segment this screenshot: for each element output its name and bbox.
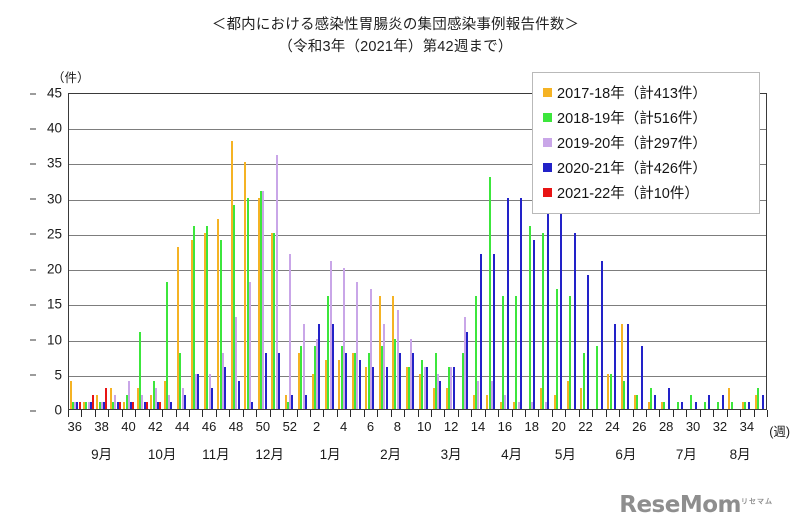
bar	[79, 402, 81, 409]
bar	[170, 402, 172, 409]
bar	[493, 254, 495, 409]
bar	[489, 177, 491, 409]
bar	[197, 374, 199, 409]
bar	[224, 367, 226, 409]
bar	[480, 254, 482, 409]
bar	[251, 402, 253, 409]
bar	[569, 296, 571, 409]
x-axis-tick	[579, 410, 580, 417]
x-axis-tick	[68, 410, 69, 417]
x-axis-week-label: 6	[367, 419, 374, 434]
bar	[426, 367, 428, 409]
x-axis-month-label: 1月	[320, 443, 341, 463]
x-axis-tick	[95, 410, 96, 417]
bar-group-week-42	[150, 94, 163, 409]
legend-label-2021-22: 2021-22年（計10件）	[557, 182, 699, 203]
x-axis-tick	[391, 410, 392, 417]
legend-swatch-2020-21	[543, 163, 552, 172]
bar-group-week-12	[446, 94, 459, 409]
bar	[332, 324, 334, 409]
x-axis-tick	[364, 410, 365, 417]
bar-group-week-17	[513, 94, 526, 409]
bar	[278, 353, 280, 409]
y-axis-tick-label: 5	[36, 367, 62, 382]
x-axis-week-label: 34	[740, 419, 754, 434]
bar	[238, 381, 240, 409]
bar	[105, 388, 107, 409]
chart-page: ＜都内における感染性胃腸炎の集団感染事例報告件数＞ （令和3年（2021年）第4…	[0, 0, 791, 530]
x-axis-week-label: 40	[121, 419, 135, 434]
bar	[529, 226, 531, 409]
x-axis-tick	[310, 410, 311, 417]
bar-group-week-44	[177, 94, 190, 409]
x-axis-tick	[512, 410, 513, 417]
x-axis-ticks	[68, 410, 767, 418]
bar	[132, 402, 134, 409]
bar	[668, 388, 670, 409]
x-axis-tick	[754, 410, 755, 417]
bar	[265, 353, 267, 409]
legend-label-2019-20: 2019-20年（計297件）	[557, 132, 707, 153]
y-axis-tick-label: 40	[36, 121, 62, 136]
x-axis-week-label: 26	[632, 419, 646, 434]
x-axis-week-label: 22	[578, 419, 592, 434]
bar	[399, 353, 401, 409]
bar-group-week-36	[70, 94, 83, 409]
x-axis-tick	[700, 410, 701, 417]
x-axis-week-label: 24	[605, 419, 619, 434]
bar	[502, 296, 504, 409]
x-axis-week-label: 28	[659, 419, 673, 434]
x-axis-week-label: 8	[394, 419, 401, 434]
bar	[542, 233, 544, 409]
bar-group-week-46	[204, 94, 217, 409]
y-axis-tick-label: 10	[36, 332, 62, 347]
y-axis-unit-label: （件）	[52, 67, 90, 86]
bar-group-week-52	[285, 94, 298, 409]
x-axis-tick	[297, 410, 298, 417]
x-axis-tick	[619, 410, 620, 417]
y-axis-tick-label: 15	[36, 297, 62, 312]
x-axis-tick	[337, 410, 338, 417]
x-axis-tick	[270, 410, 271, 417]
bar	[722, 395, 724, 409]
x-axis-tick	[162, 410, 163, 417]
x-axis-tick	[81, 410, 82, 417]
bar	[372, 367, 374, 409]
y-axis-tick-label: 45	[36, 86, 62, 101]
legend-swatch-2017-18	[543, 88, 552, 97]
bar-group-week-9	[406, 94, 419, 409]
x-axis-tick	[350, 410, 351, 417]
bar	[583, 353, 585, 409]
x-axis-tick	[633, 410, 634, 417]
x-axis-tick	[713, 410, 714, 417]
x-axis-month-labels: 9月10月11月12月1月2月3月4月5月6月7月8月	[0, 443, 791, 467]
bar	[412, 353, 414, 409]
x-axis-week-label: 16	[498, 419, 512, 434]
bar-group-week-1	[298, 94, 311, 409]
legend-swatch-2021-22	[543, 188, 552, 197]
bar-group-week-41	[137, 94, 150, 409]
x-axis-month-label: 10月	[148, 443, 177, 463]
x-axis-week-label: 46	[202, 419, 216, 434]
x-axis-month-label: 4月	[501, 443, 522, 463]
x-axis-tick	[243, 410, 244, 417]
bar	[556, 289, 558, 409]
bar	[614, 324, 616, 409]
x-axis-month-label: 11月	[202, 443, 230, 463]
bar-group-week-14	[473, 94, 486, 409]
bar	[560, 212, 562, 409]
x-axis-tick	[538, 410, 539, 417]
bar	[690, 395, 692, 409]
x-axis-unit-label: (週)	[769, 421, 790, 440]
legend-item[interactable]: 2020-21年（計426件）	[543, 155, 749, 180]
bar	[681, 402, 683, 409]
bar	[610, 374, 612, 409]
x-axis-month-label: 9月	[91, 443, 112, 463]
legend: 2017-18年（計413件） 2018-19年（計516件） 2019-20年…	[532, 72, 760, 214]
bar	[587, 275, 589, 409]
x-axis-tick	[606, 410, 607, 417]
x-axis-tick	[458, 410, 459, 417]
x-axis-week-label: 18	[525, 419, 539, 434]
bar	[704, 402, 706, 409]
bar	[601, 261, 603, 409]
bar-group-week-45	[191, 94, 204, 409]
bar-group-week-48	[231, 94, 244, 409]
x-axis-tick	[740, 410, 741, 417]
bar	[641, 346, 643, 409]
x-axis-week-labels: 3638404244464850522468101214161820222426…	[0, 419, 791, 441]
bar	[159, 402, 161, 409]
x-axis-week-label: 30	[686, 419, 700, 434]
bar	[650, 388, 652, 409]
y-axis: 454035302520151050	[34, 93, 62, 410]
x-axis-week-label: 44	[175, 419, 189, 434]
x-axis-tick	[202, 410, 203, 417]
bar	[695, 402, 697, 409]
bar	[515, 296, 517, 409]
x-axis-tick	[377, 410, 378, 417]
bar	[439, 381, 441, 409]
legend-item[interactable]: 2017-18年（計413件）	[543, 80, 749, 105]
legend-label-2017-18: 2017-18年（計413件）	[557, 82, 707, 103]
bar-group-week-8	[392, 94, 405, 409]
x-axis-week-label: 20	[551, 419, 565, 434]
bar	[92, 395, 94, 409]
x-axis-tick	[404, 410, 405, 417]
x-axis-tick	[176, 410, 177, 417]
x-axis-tick	[135, 410, 136, 417]
x-axis-tick	[256, 410, 257, 417]
y-axis-tick-label: 35	[36, 156, 62, 171]
bar	[596, 346, 598, 409]
x-axis-week-label: 50	[256, 419, 270, 434]
x-axis-week-label: 42	[148, 419, 162, 434]
x-axis-tick	[686, 410, 687, 417]
bar	[663, 402, 665, 409]
bar-group-week-16	[500, 94, 513, 409]
bar-group-week-7	[379, 94, 392, 409]
x-axis-month-label: 6月	[615, 443, 636, 463]
bar	[748, 402, 750, 409]
x-axis-week-label: 2	[313, 419, 320, 434]
bar-group-week-47	[217, 94, 230, 409]
bar-group-week-40	[123, 94, 136, 409]
bar	[717, 402, 719, 409]
x-axis-tick	[108, 410, 109, 417]
legend-item[interactable]: 2018-19年（計516件）	[543, 105, 749, 130]
bar-group-week-6	[365, 94, 378, 409]
x-axis-tick	[229, 410, 230, 417]
y-axis-tick-label: 30	[36, 191, 62, 206]
legend-swatch-2019-20	[543, 138, 552, 147]
bar	[623, 381, 625, 409]
bar	[520, 198, 522, 409]
legend-item[interactable]: 2021-22年（計10件）	[543, 180, 749, 205]
x-axis-week-label: 4	[340, 419, 347, 434]
legend-label-2018-19: 2018-19年（計516件）	[557, 107, 707, 128]
x-axis-tick	[565, 410, 566, 417]
bar-group-week-10	[419, 94, 432, 409]
x-axis-month-label: 12月	[255, 443, 284, 463]
bar-group-week-39	[110, 94, 123, 409]
x-axis-month-label: 5月	[555, 443, 576, 463]
bar	[708, 395, 710, 409]
bar-group-week-37	[83, 94, 96, 409]
x-axis-tick	[552, 410, 553, 417]
bar	[249, 282, 251, 409]
x-axis-tick	[525, 410, 526, 417]
bar-group-week-5	[352, 94, 365, 409]
bar	[166, 282, 168, 409]
x-axis-week-label: 52	[283, 419, 297, 434]
bar	[453, 367, 455, 409]
x-axis-week-label: 10	[417, 419, 431, 434]
bar	[386, 367, 388, 409]
bar	[744, 402, 746, 409]
bar	[654, 395, 656, 409]
title-line-1: ＜都内における感染性胃腸炎の集団感染事例報告件数＞	[0, 14, 791, 36]
bar	[119, 402, 121, 409]
x-axis-tick	[323, 410, 324, 417]
bar	[318, 324, 320, 409]
x-axis-tick	[216, 410, 217, 417]
x-axis-tick	[283, 410, 284, 417]
bar	[507, 198, 509, 409]
x-axis-week-label: 48	[229, 419, 243, 434]
bar	[762, 395, 764, 409]
x-axis-tick	[149, 410, 150, 417]
bar	[627, 324, 629, 409]
bar-group-week-38	[96, 94, 109, 409]
bar-group-week-51	[271, 94, 284, 409]
y-axis-tick-label: 0	[36, 403, 62, 418]
bar	[184, 395, 186, 409]
bar	[305, 395, 307, 409]
y-axis-tick-label: 25	[36, 226, 62, 241]
x-axis-tick	[767, 410, 768, 417]
bar	[359, 360, 361, 409]
x-axis-week-label: 32	[713, 419, 727, 434]
bar	[636, 395, 638, 409]
bar	[291, 395, 293, 409]
x-axis-tick	[431, 410, 432, 417]
x-axis-month-label: 7月	[676, 443, 697, 463]
legend-label-2020-21: 2020-21年（計426件）	[557, 157, 707, 178]
title-line-2: （令和3年（2021年）第42週まで）	[0, 36, 791, 58]
bar	[466, 332, 468, 409]
x-axis-month-label: 8月	[730, 443, 751, 463]
x-axis-tick	[485, 410, 486, 417]
bar-group-week-11	[433, 94, 446, 409]
x-axis-month-label: 3月	[441, 443, 462, 463]
bar-group-week-15	[486, 94, 499, 409]
bar	[677, 402, 679, 409]
y-axis-tick-label: 20	[36, 262, 62, 277]
x-axis-tick	[659, 410, 660, 417]
bar-group-week-50	[258, 94, 271, 409]
x-axis-tick	[592, 410, 593, 417]
bar	[289, 254, 291, 409]
chart-title: ＜都内における感染性胃腸炎の集団感染事例報告件数＞ （令和3年（2021年）第4…	[0, 14, 791, 58]
x-axis-week-label: 38	[94, 419, 108, 434]
bar	[757, 388, 759, 409]
bar-group-week-49	[244, 94, 257, 409]
x-axis-tick	[498, 410, 499, 417]
bar-group-week-13	[459, 94, 472, 409]
bar-group-week-2	[312, 94, 325, 409]
bar	[533, 240, 535, 409]
x-axis-tick	[189, 410, 190, 417]
resemom-watermark: ReseMomリセマム	[619, 492, 773, 518]
legend-item[interactable]: 2019-20年（計297件）	[543, 130, 749, 155]
x-axis-tick	[646, 410, 647, 417]
bar	[345, 353, 347, 409]
x-axis-month-label: 2月	[380, 443, 401, 463]
bar	[146, 402, 148, 409]
bar	[574, 233, 576, 409]
x-axis-tick	[418, 410, 419, 417]
bar-group-week-3	[325, 94, 338, 409]
x-axis-tick	[122, 410, 123, 417]
x-axis-week-label: 14	[471, 419, 485, 434]
x-axis-tick	[727, 410, 728, 417]
legend-swatch-2018-19	[543, 113, 552, 122]
bar-group-week-4	[338, 94, 351, 409]
bar	[211, 388, 213, 409]
x-axis-week-label: 36	[67, 419, 81, 434]
bar-group-week-43	[164, 94, 177, 409]
x-axis-week-label: 12	[444, 419, 458, 434]
x-axis-tick	[673, 410, 674, 417]
bar	[731, 402, 733, 409]
x-axis-tick	[471, 410, 472, 417]
x-axis-tick	[444, 410, 445, 417]
